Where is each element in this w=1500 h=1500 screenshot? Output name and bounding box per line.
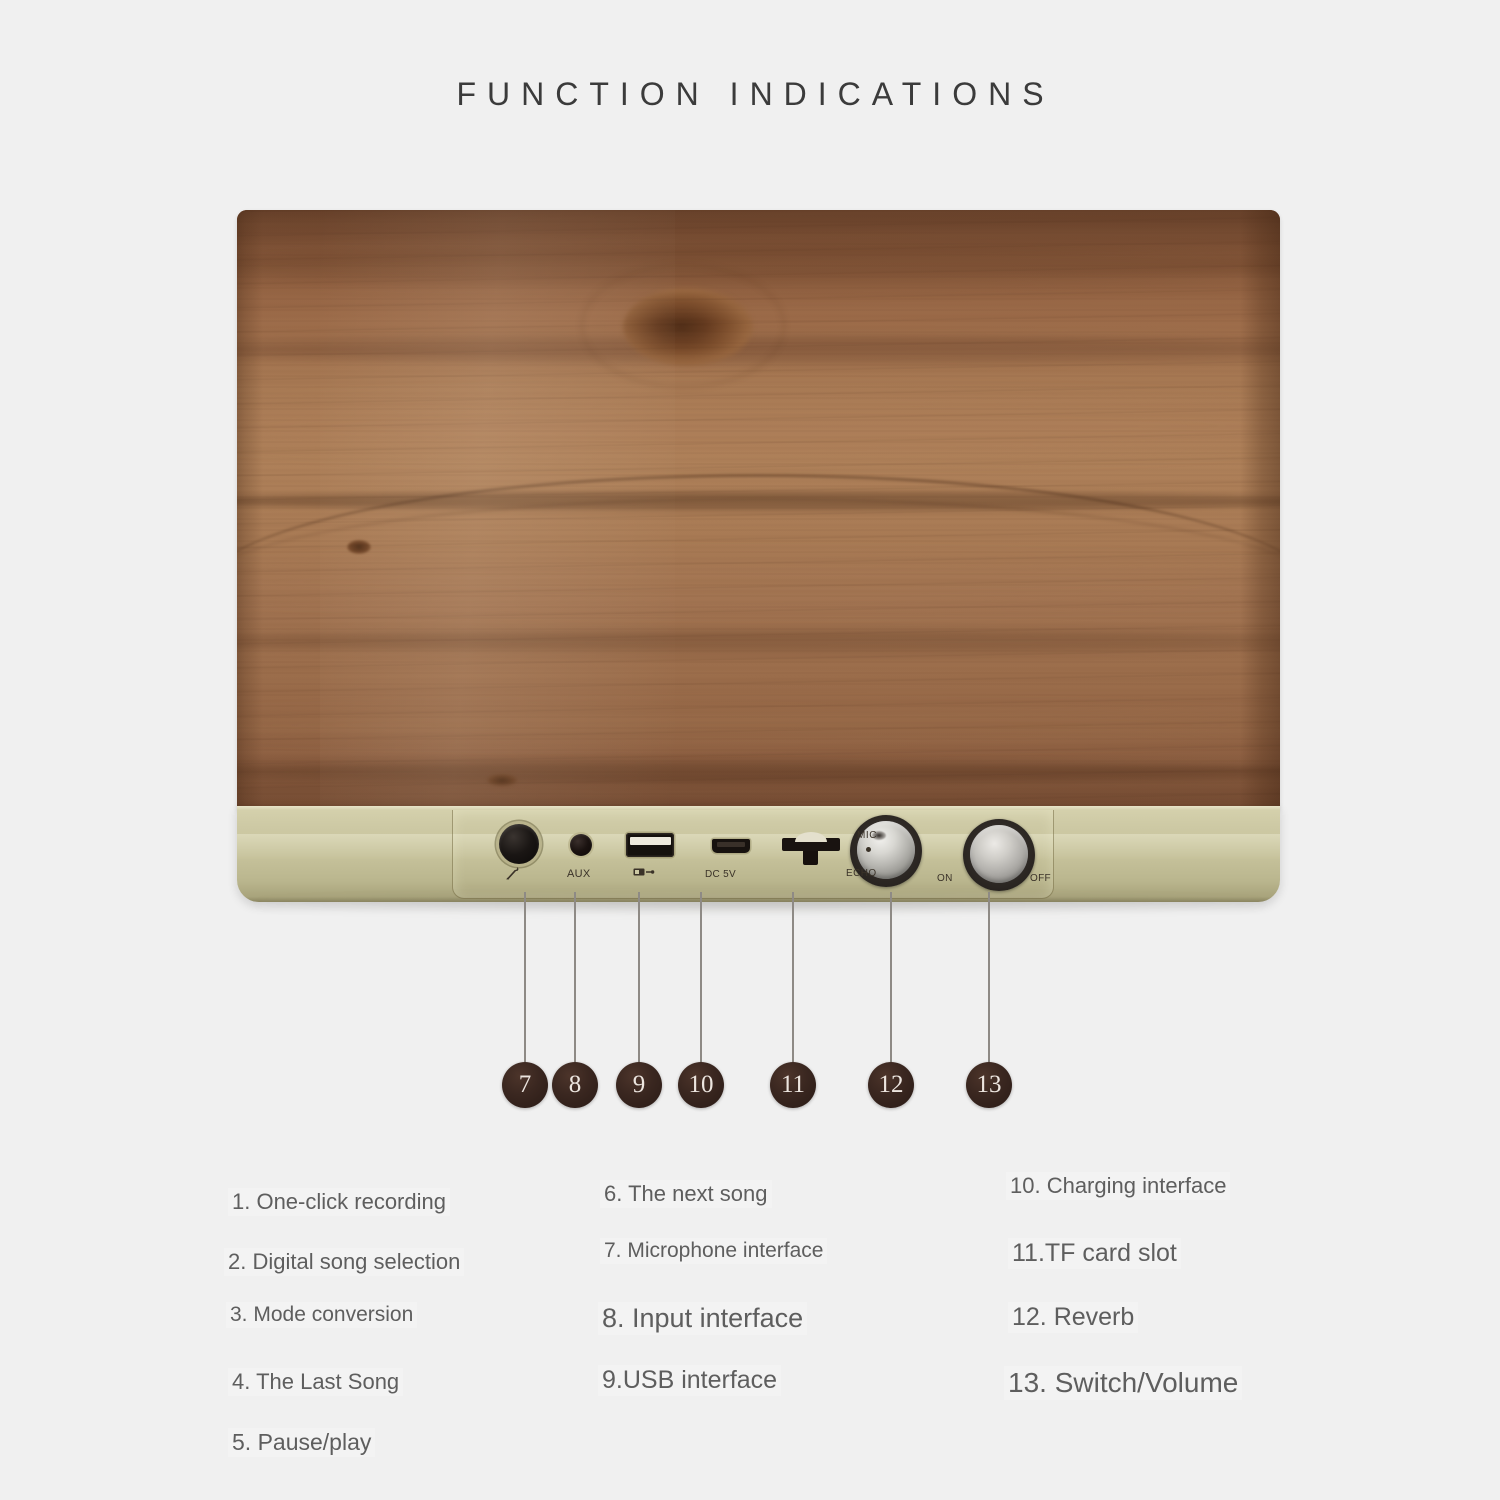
switch-volume-knob[interactable] xyxy=(963,819,1035,891)
wood-top-shadow xyxy=(237,210,1280,280)
callout-badge-9[interactable]: 9 xyxy=(616,1062,662,1108)
legend-item: 13. Switch/Volume xyxy=(1004,1366,1242,1400)
speaker-wood-body xyxy=(237,210,1280,810)
legend-item: 6. The next song xyxy=(600,1180,772,1208)
legend-item: 4. The Last Song xyxy=(228,1368,403,1396)
product-drop-shadow xyxy=(255,896,1265,912)
legend-item: 2. Digital song selection xyxy=(224,1248,464,1276)
microphone-icon xyxy=(505,866,521,880)
legend-item: 5. Pause/play xyxy=(228,1428,375,1457)
volume-on-label: ON xyxy=(937,873,953,884)
callout-line-12 xyxy=(890,892,892,1062)
callout-badge-11[interactable]: 11 xyxy=(770,1062,816,1108)
callout-badge-13[interactable]: 13 xyxy=(966,1062,1012,1108)
wood-left-edge xyxy=(237,210,263,810)
callout-line-13 xyxy=(988,892,990,1062)
callout-badge-8[interactable]: 8 xyxy=(552,1062,598,1108)
usb-icon xyxy=(633,867,655,877)
wood-right-edge xyxy=(1240,210,1280,810)
callout-badge-10[interactable]: 10 xyxy=(678,1062,724,1108)
tf-card-slot[interactable] xyxy=(782,838,840,851)
speaker-product-image: AUX DC 5V MIC ECHO ON OFF xyxy=(237,210,1280,900)
speaker-gold-base: AUX DC 5V MIC ECHO ON OFF xyxy=(237,806,1280,902)
dc-port-label: DC 5V xyxy=(705,869,736,880)
callout-line-8 xyxy=(574,892,576,1062)
legend-item: 12. Reverb xyxy=(1008,1302,1138,1333)
legend-item: 9.USB interface xyxy=(598,1365,781,1396)
wood-bottom-shadow xyxy=(237,750,1280,810)
tf-card-slot-tab xyxy=(803,851,818,865)
usb-a-port[interactable] xyxy=(626,833,674,857)
legend-item: 7. Microphone interface xyxy=(600,1238,827,1264)
callout-badge-12[interactable]: 12 xyxy=(868,1062,914,1108)
legend-item: 8. Input interface xyxy=(598,1302,807,1335)
micro-usb-charging-port[interactable] xyxy=(712,839,750,853)
callout-line-9 xyxy=(638,892,640,1062)
callout-badge-7[interactable]: 7 xyxy=(502,1062,548,1108)
callout-line-7 xyxy=(524,892,526,1062)
aux-input-jack-port[interactable] xyxy=(570,834,592,856)
knob-cap xyxy=(970,825,1028,883)
mic-knob-label: MIC xyxy=(857,830,877,841)
aux-port-label: AUX xyxy=(567,868,591,880)
wood-gloss-highlight xyxy=(320,210,675,810)
callout-line-10 xyxy=(700,892,702,1062)
callout-line-11 xyxy=(792,892,794,1062)
page-title: FUNCTION INDICATIONS xyxy=(0,76,1500,113)
legend-item: 10. Charging interface xyxy=(1006,1172,1230,1200)
echo-knob-label: ECHO xyxy=(846,868,877,879)
volume-off-label: OFF xyxy=(1030,873,1051,884)
legend-item: 1. One-click recording xyxy=(228,1188,450,1216)
mic-indicator-dot xyxy=(866,847,871,852)
microphone-jack-port[interactable] xyxy=(499,824,539,864)
legend-item: 3. Mode conversion xyxy=(226,1302,417,1328)
legend-item: 11.TF card slot xyxy=(1008,1238,1181,1269)
